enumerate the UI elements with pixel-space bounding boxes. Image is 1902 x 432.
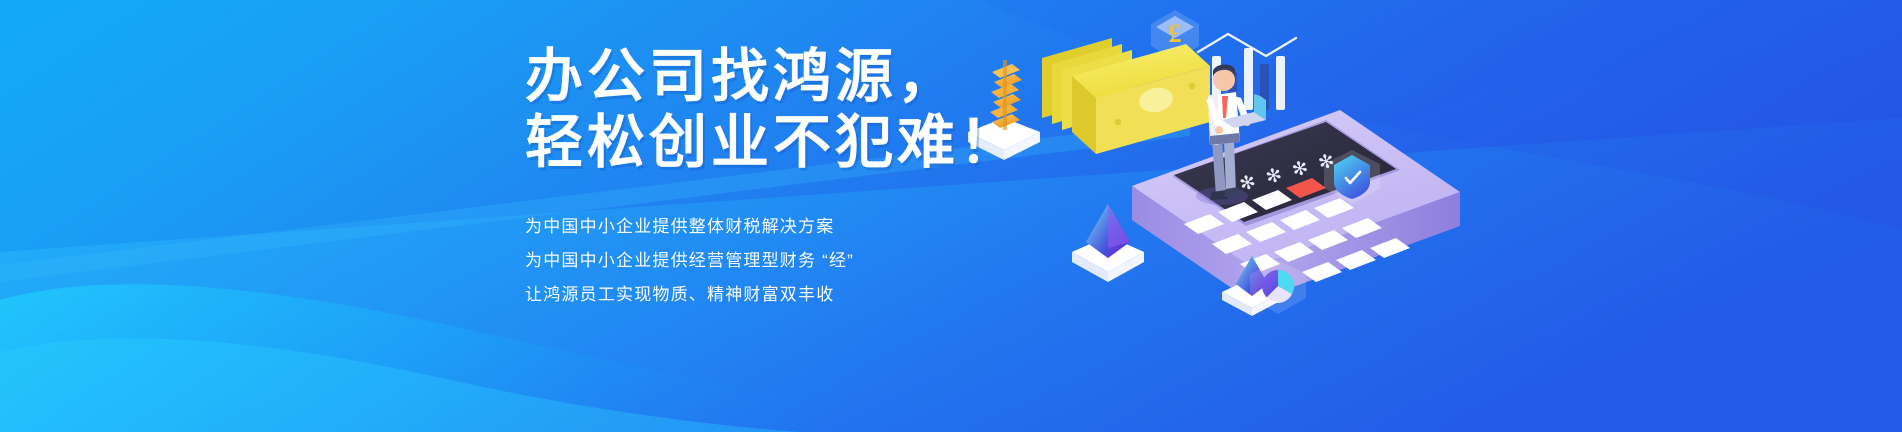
subtitle-line-1: 为中国中小企业提供整体财税解决方案 — [525, 210, 1165, 244]
banner-subtitle-list: 为中国中小企业提供整体财税解决方案 为中国中小企业提供经营管理型财务 “经” 让… — [525, 210, 1165, 312]
hero-banner: 办公司找鸿源， 轻松创业不犯难！ 为中国中小企业提供整体财税解决方案 为中国中小… — [0, 0, 1902, 432]
currency-symbol: £ — [1169, 19, 1182, 48]
headline-line-1: 办公司找鸿源， — [525, 44, 1165, 110]
banner-headline: 办公司找鸿源， 轻松创业不犯难！ — [525, 44, 1165, 176]
banner-copy: 办公司找鸿源， 轻松创业不犯难！ 为中国中小企业提供整体财税解决方案 为中国中小… — [525, 44, 1165, 312]
headline-line-2: 轻松创业不犯难！ — [525, 110, 1165, 176]
subtitle-line-2: 为中国中小企业提供经营管理型财务 “经” — [525, 244, 1165, 278]
subtitle-line-3: 让鸿源员工实现物质、精神财富双丰收 — [525, 278, 1165, 312]
